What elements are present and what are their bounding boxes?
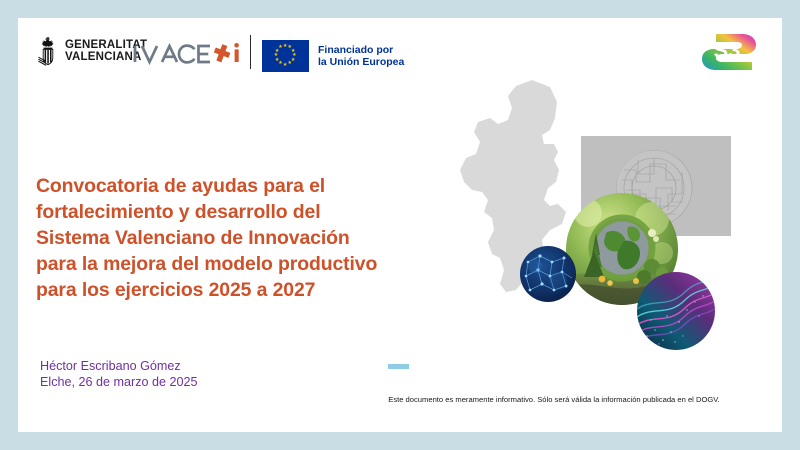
author-name: Héctor Escribano Gómez	[40, 358, 198, 374]
title-line: fortalecimiento y desarrollo del	[36, 199, 452, 225]
decorative-artwork	[418, 68, 782, 358]
accent-dash	[388, 364, 409, 369]
generalitat-coat-of-arms-icon	[36, 36, 60, 66]
author-block: Héctor Escribano Gómez Elche, 26 de marz…	[40, 358, 198, 390]
title-line: para la mejora del modelo productivo	[36, 251, 452, 277]
disclaimer-note: Este documento es meramente informativo.…	[344, 395, 764, 405]
s3-logo-label: S3	[714, 38, 741, 63]
title-line: Sistema Valenciano de Innovación	[36, 225, 452, 251]
title-line: para los ejercicios 2025 a 2027	[36, 277, 452, 303]
logo-divider	[250, 35, 251, 69]
title-line: Convocatoria de ayudas para el	[36, 173, 452, 199]
page-title: Convocatoria de ayudas para el fortaleci…	[36, 173, 452, 303]
slide-canvas: GENERALITAT VALENCIANA	[18, 18, 782, 432]
eu-star-icon: ★	[275, 58, 280, 63]
eu-funding-logo: ★★★★★★★★★★★★ Financiado por la Unión Eur…	[262, 40, 404, 72]
data-wave-circle	[637, 272, 715, 350]
ivace-logo-mark	[131, 39, 245, 69]
eu-star-icon: ★	[278, 45, 283, 50]
eu-funding-label: Financiado por la Unión Europea	[318, 44, 404, 69]
eu-star-icon: ★	[274, 53, 279, 58]
eu-star-icon: ★	[288, 61, 293, 66]
european-union-flag-icon: ★★★★★★★★★★★★	[262, 40, 309, 72]
ivace-logo	[131, 39, 245, 69]
slide-frame: GENERALITAT VALENCIANA	[0, 0, 800, 450]
blue-network-circle	[520, 246, 576, 302]
eu-star-icon: ★	[283, 63, 288, 68]
author-place-date: Elche, 26 de marzo de 2025	[40, 374, 198, 390]
